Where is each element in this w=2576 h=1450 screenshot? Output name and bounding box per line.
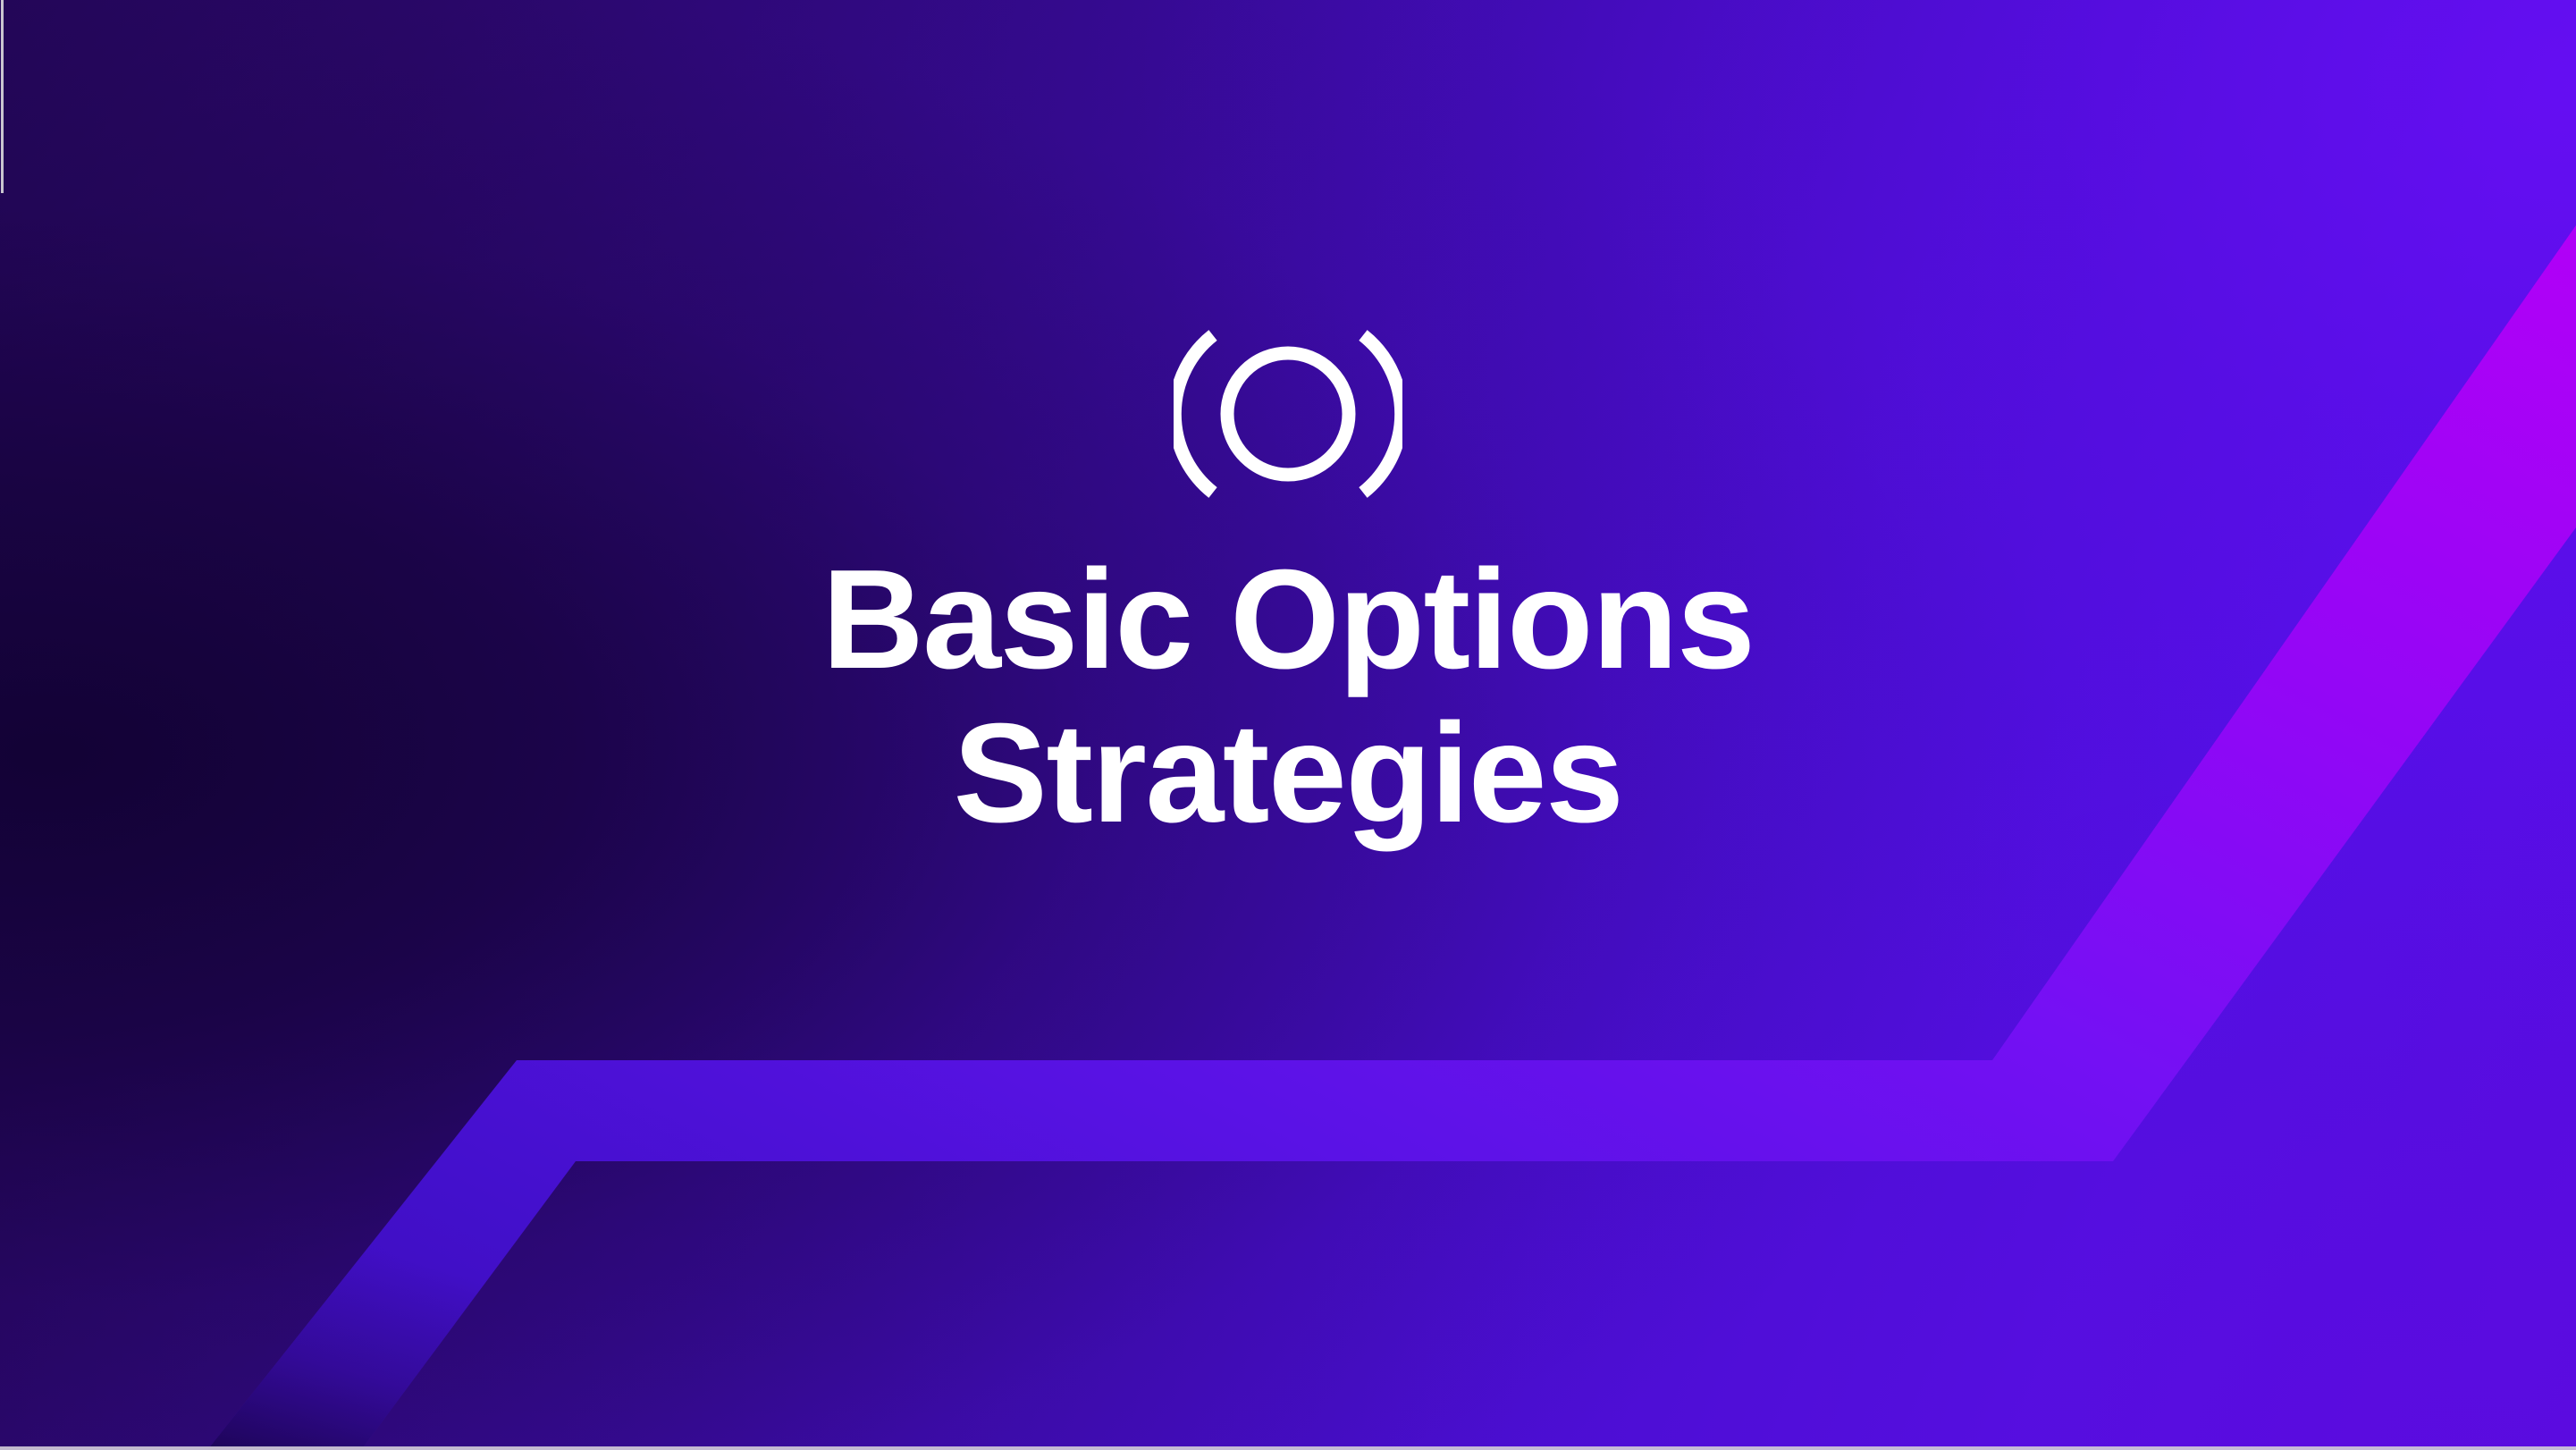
bracketed-circle-logo	[1174, 329, 1402, 499]
left-edge-scrollbar[interactable]	[1, 0, 4, 193]
title-slide: Basic Options Strategies	[0, 0, 2576, 1450]
slide-content: Basic Options Strategies	[0, 0, 2576, 1450]
slide-title-line-2: Strategies	[394, 703, 2182, 844]
bottom-edge-rule	[0, 1446, 2576, 1450]
slide-title-line-1: Basic Options	[394, 549, 2182, 690]
slide-title: Basic Options Strategies	[394, 549, 2182, 844]
bracketed-circle-logo-svg	[1174, 329, 1402, 499]
logo-left-arc	[1174, 335, 1213, 493]
logo-right-arc	[1363, 335, 1402, 493]
logo-center-ring	[1227, 353, 1349, 475]
